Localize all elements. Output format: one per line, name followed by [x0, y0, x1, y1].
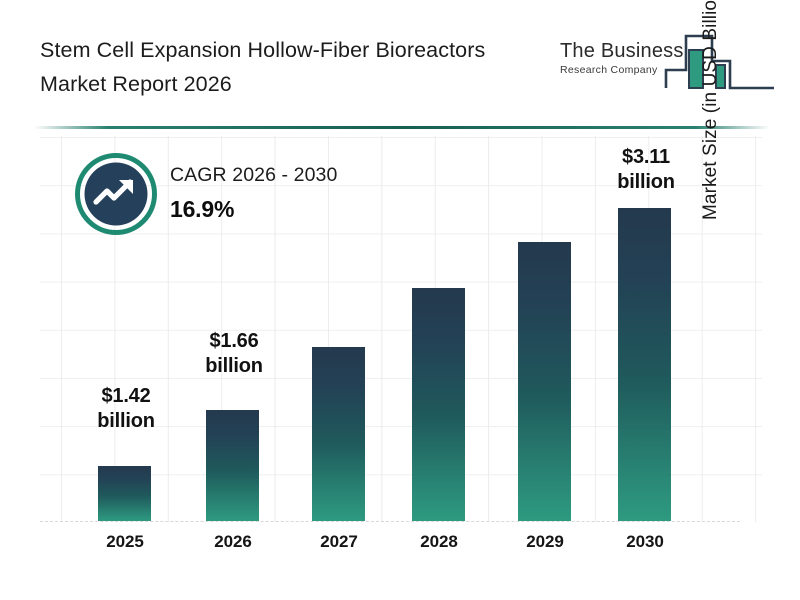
- company-logo: The Business Research Company: [560, 28, 775, 100]
- bar-value-amount: $3.11: [612, 145, 680, 170]
- trending-up-arrow-icon: [74, 152, 158, 236]
- bar-value-amount: $1.66: [200, 329, 268, 354]
- x-axis-tick-label: 2026: [196, 532, 270, 552]
- cagr-period-label: CAGR 2026 - 2030: [170, 164, 337, 187]
- bar-value-unit: billion: [92, 409, 160, 434]
- bar-value-label: $1.66billion: [200, 329, 268, 379]
- header: Stem Cell Expansion Hollow-Fiber Bioreac…: [0, 0, 800, 122]
- cagr-badge: CAGR 2026 - 2030 16.9%: [74, 152, 404, 244]
- y-axis-title: Market Size (in USD Billion): [700, 0, 722, 220]
- chart-bar: [206, 410, 259, 521]
- cagr-value-label: 16.9%: [170, 196, 234, 223]
- x-axis-tick-label: 2030: [608, 532, 682, 552]
- bar-value-label: $3.11billion: [612, 145, 680, 195]
- x-axis-tick-label: 2025: [88, 532, 162, 552]
- chart-bar: [518, 242, 571, 521]
- page-title: Stem Cell Expansion Hollow-Fiber Bioreac…: [40, 33, 520, 101]
- x-axis-tick-label: 2029: [508, 532, 582, 552]
- bar-value-unit: billion: [200, 354, 268, 379]
- chart-page: Stem Cell Expansion Hollow-Fiber Bioreac…: [0, 0, 800, 600]
- chart-bar: [412, 288, 465, 521]
- header-divider: [34, 126, 770, 129]
- chart-bar: [618, 208, 671, 521]
- bar-value-label: $1.42billion: [92, 384, 160, 434]
- bar-value-unit: billion: [612, 170, 680, 195]
- bar-value-amount: $1.42: [92, 384, 160, 409]
- x-axis-tick-label: 2027: [302, 532, 376, 552]
- x-axis-tick-label: 2028: [402, 532, 476, 552]
- chart-bar: [312, 347, 365, 521]
- chart-baseline-axis: [40, 521, 740, 522]
- chart-bar: [98, 466, 151, 521]
